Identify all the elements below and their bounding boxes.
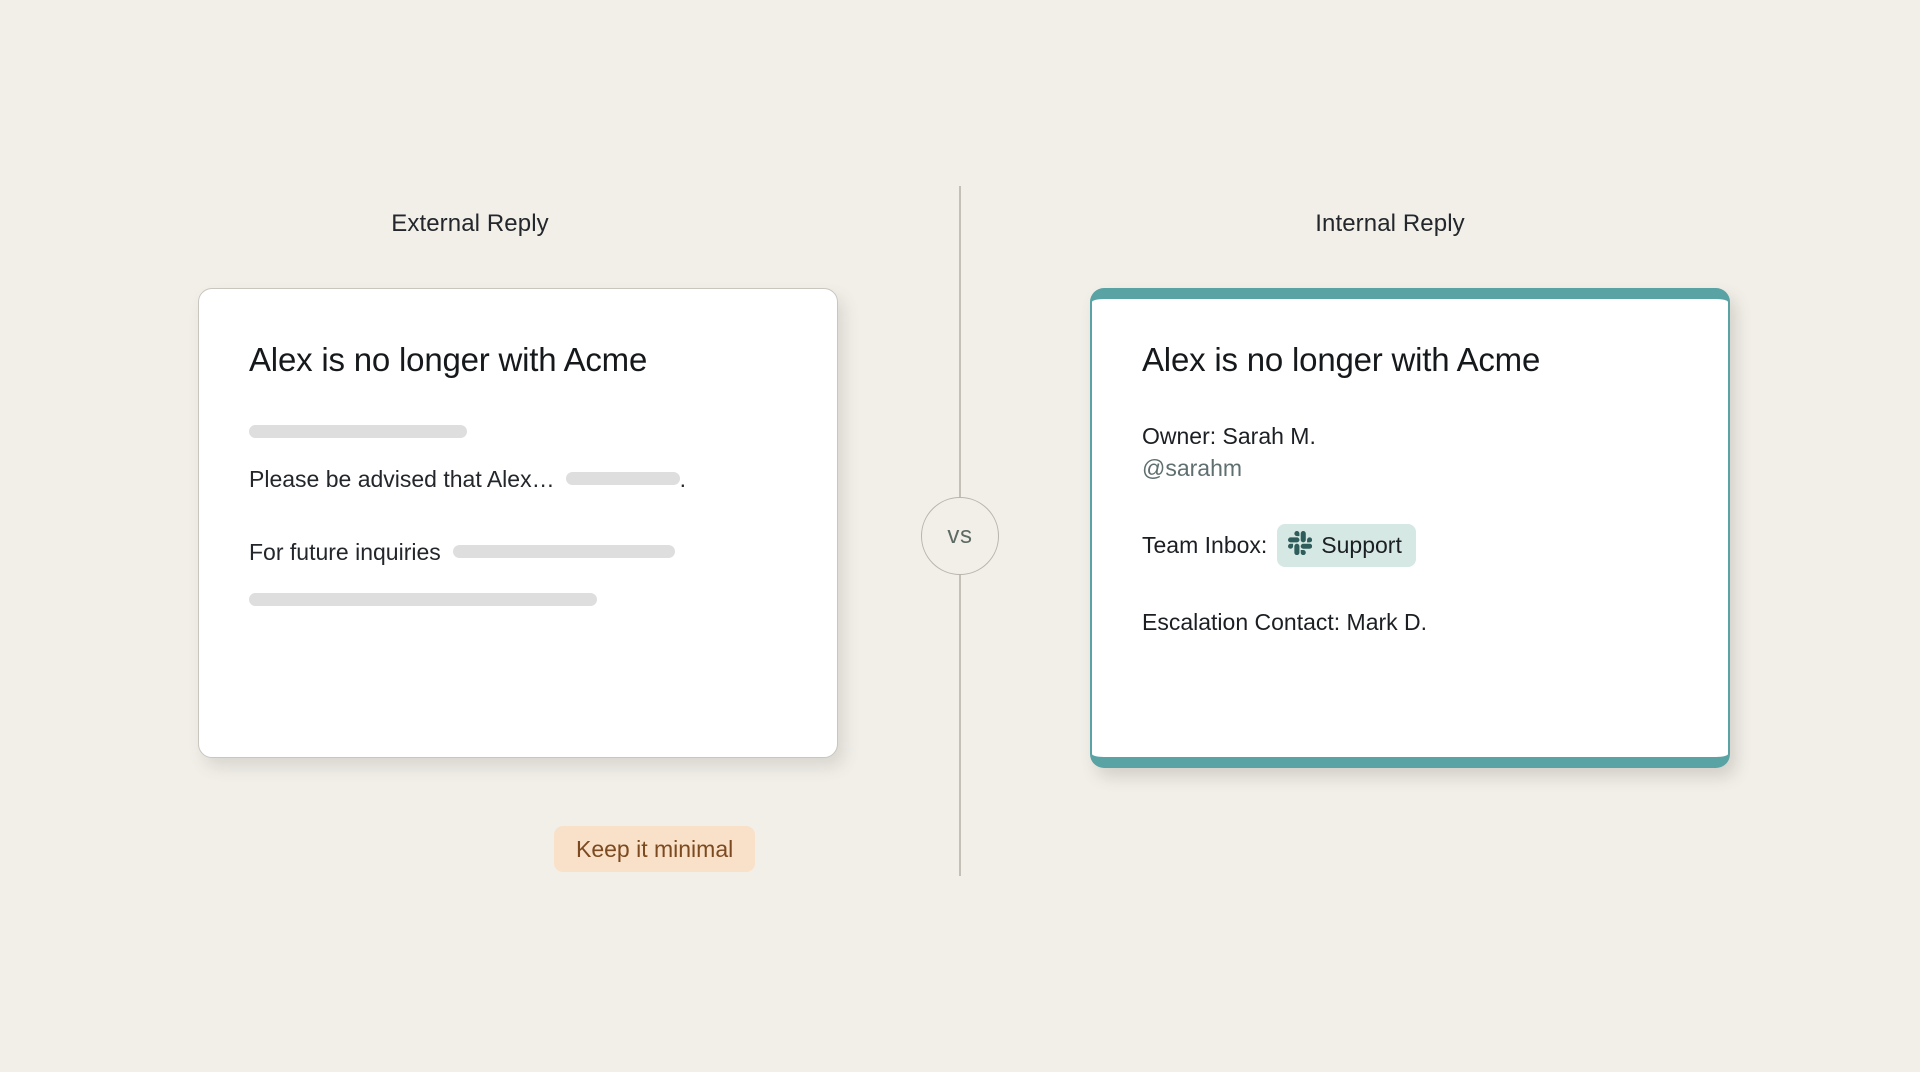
- external-paragraph-2-text: For future inquiries: [249, 539, 441, 565]
- paragraph-spacer: [249, 495, 787, 537]
- external-caption-pill: Keep it minimal: [554, 826, 755, 872]
- external-reply-card-body: Alex is no longer with Acme Please be ad…: [199, 289, 837, 757]
- comparison-stage: External Reply Alex is no longer with Ac…: [0, 0, 1920, 1072]
- internal-card-heading: Alex is no longer with Acme: [1142, 341, 1678, 379]
- external-paragraph-2: For future inquiries: [249, 537, 787, 568]
- external-paragraph-1: Please be advised that Alex….: [249, 464, 787, 495]
- internal-reply-column: Internal Reply Alex is no longer with Ac…: [1070, 0, 1770, 1072]
- slack-icon: [1288, 531, 1312, 560]
- internal-reply-card: Alex is no longer with Acme Owner: Sarah…: [1090, 288, 1730, 768]
- external-reply-card: Alex is no longer with Acme Please be ad…: [198, 288, 838, 758]
- internal-owner-block: Owner: Sarah M. @sarahm: [1142, 421, 1678, 484]
- team-inbox-badge-label: Support: [1321, 534, 1402, 557]
- internal-team-inbox-row: Team Inbox:: [1142, 524, 1678, 567]
- external-reply-column: External Reply Alex is no longer with Ac…: [150, 0, 850, 1072]
- external-reply-title: External Reply: [150, 210, 790, 238]
- internal-escalation-line: Escalation Contact: Mark D.: [1142, 607, 1678, 639]
- internal-owner-handle: @sarahm: [1142, 453, 1678, 485]
- redaction-bar-1: [249, 425, 467, 438]
- internal-team-inbox-label: Team Inbox:: [1142, 530, 1267, 562]
- external-paragraph-1-suffix: .: [680, 466, 686, 492]
- redaction-bar-4: [249, 593, 597, 606]
- external-card-heading: Alex is no longer with Acme: [249, 341, 787, 379]
- versus-badge: vs: [921, 497, 999, 575]
- redaction-bar-2: [566, 472, 680, 485]
- external-paragraph-1-text: Please be advised that Alex…: [249, 466, 555, 492]
- internal-reply-title: Internal Reply: [1070, 210, 1710, 238]
- internal-reply-card-body: Alex is no longer with Acme Owner: Sarah…: [1092, 299, 1728, 757]
- team-inbox-badge[interactable]: Support: [1277, 524, 1416, 567]
- redaction-bar-3: [453, 545, 675, 558]
- external-card-content: Please be advised that Alex…. For future…: [249, 425, 787, 606]
- internal-owner-line: Owner: Sarah M.: [1142, 421, 1678, 453]
